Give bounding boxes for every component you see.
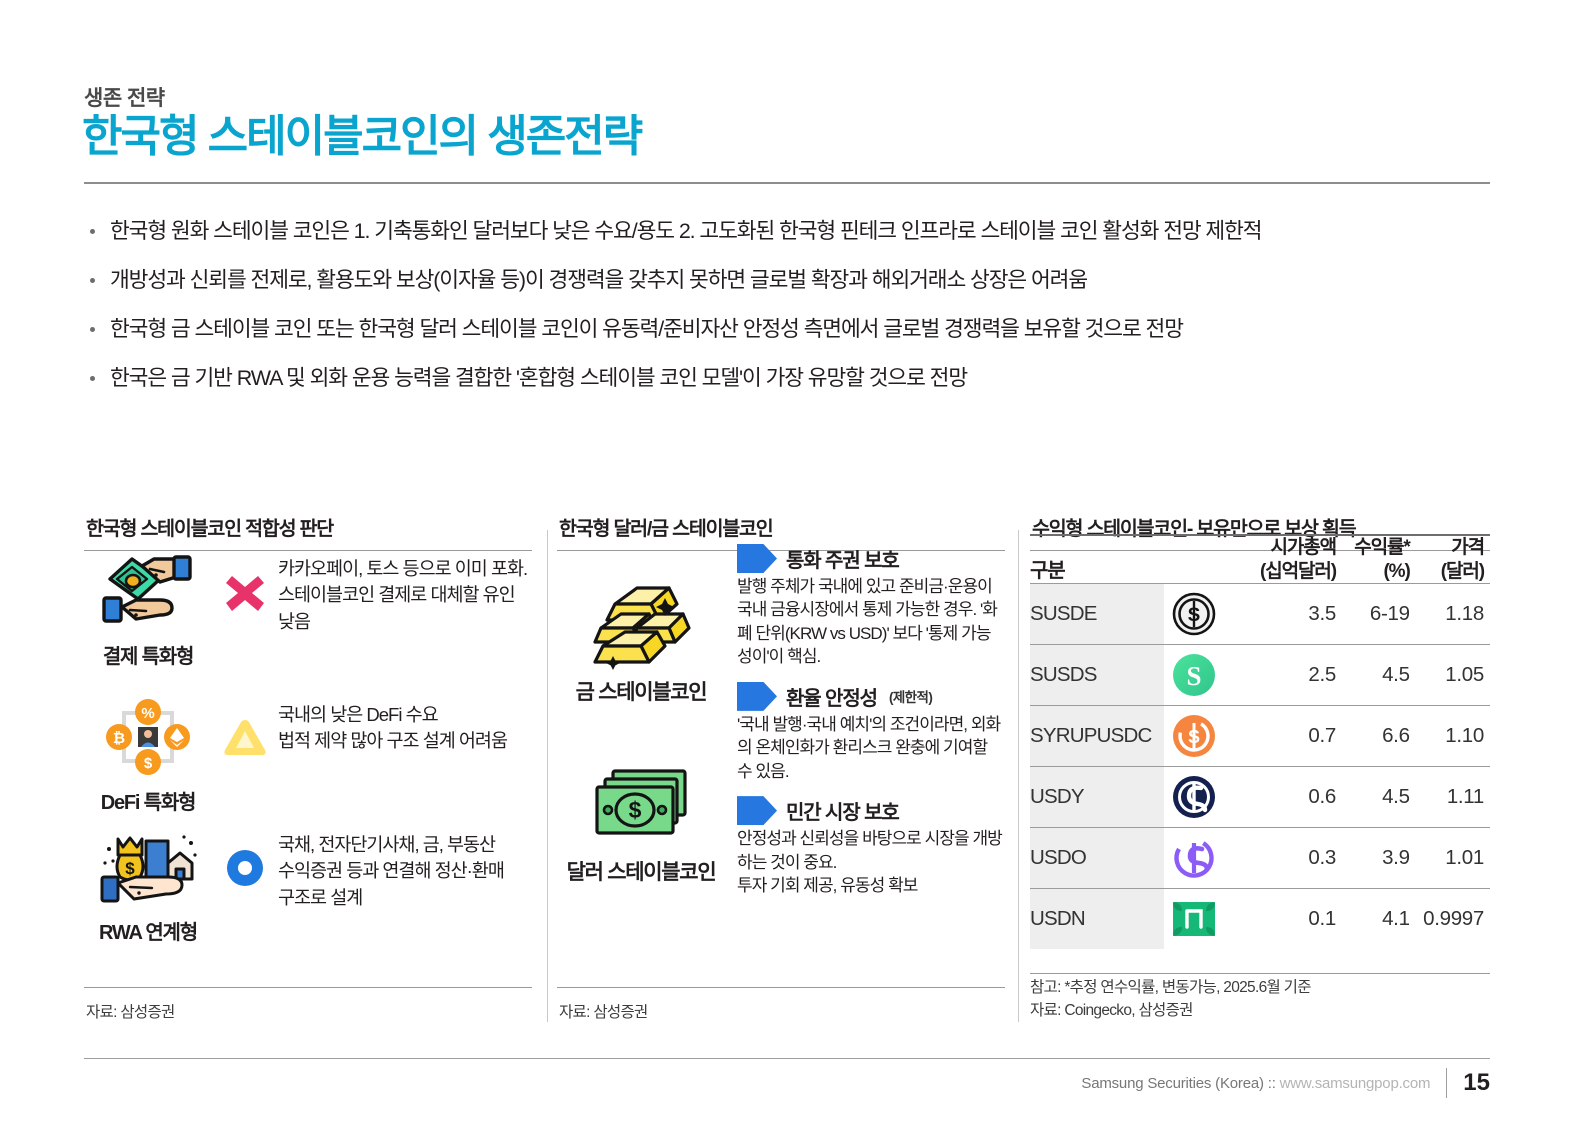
- coin-mcap: 0.3: [1225, 828, 1336, 889]
- usdy-coin-icon: [1164, 774, 1224, 820]
- coin-mcap: 0.7: [1225, 706, 1336, 767]
- suitability-label: DeFi 특화형: [84, 786, 212, 815]
- coin-name: SYRUPUSDC: [1030, 706, 1164, 767]
- col-header-mcap: 시가총액 (십억달러): [1225, 535, 1336, 584]
- suitability-text: 국채, 전자단기사채, 금, 부동산 수익증권 등과 연결해 정산·환매 구조로…: [278, 824, 504, 911]
- yellow-triangle-icon: [212, 694, 278, 782]
- footer-company: Samsung Securities (Korea) ::: [1081, 1075, 1279, 1092]
- page-number: 15: [1463, 1069, 1490, 1097]
- gold-bars-icon: [557, 572, 725, 676]
- dollar-stablecoin-label: 달러 스테이블코인: [557, 856, 725, 886]
- panel-c-source: 자료: Coingecko, 삼성증권: [1030, 1000, 1311, 1022]
- coin-yield: 3.9: [1336, 828, 1410, 889]
- defi-network-icon: % $ ₿: [84, 694, 212, 782]
- footer-text: Samsung Securities (Korea) :: www.samsun…: [1081, 1075, 1430, 1092]
- footer-domain: www.samsungpop.com: [1280, 1075, 1431, 1092]
- col-header-icon: [1164, 535, 1224, 584]
- table-row: USDY 0.6 4: [1030, 767, 1490, 828]
- coin-mcap: 0.1: [1225, 889, 1336, 950]
- suitability-row: % $ ₿ DeFi 특화형: [84, 694, 507, 815]
- bullet-item: 개방성과 신뢰를 전제로, 활용도와 보상(이자율 등)이 경쟁력을 갖추지 못…: [84, 267, 1504, 294]
- panel-divider-1: [547, 530, 548, 1022]
- dollar-bills-icon: $: [557, 752, 725, 856]
- page-title: 한국형 스테이블코인의 생존전략: [82, 112, 641, 163]
- yield-table: 구분 시가총액 (십억달러) 수익률* (%) 가격 (달러): [1030, 534, 1490, 949]
- coin-yield: 6.6: [1336, 706, 1410, 767]
- bullet-list: 한국형 원화 스테이블 코인은 1. 기축통화인 달러보다 낮은 수요/용도 2…: [84, 218, 1504, 414]
- coin-price: 1.18: [1410, 584, 1490, 645]
- susds-coin-icon: S: [1164, 652, 1224, 698]
- blue-circle-icon: [212, 824, 278, 912]
- cash-handoff-icon: [84, 548, 212, 636]
- svg-text:%: %: [141, 705, 154, 722]
- suitability-text: 카카오페이, 토스 등으로 이미 포화. 스테이블코인 결제로 대체할 유인 낮…: [278, 548, 527, 635]
- suitability-row: 결제 특화형 카카오페이, 토스 등으로 이미 포화. 스테이블코인 결제로 대…: [84, 548, 527, 669]
- suitability-label: 결제 특화형: [84, 640, 212, 669]
- coin-name: SUSDE: [1030, 584, 1164, 645]
- panel-a-source: 자료: 삼성증권: [86, 1000, 175, 1022]
- bullet-item: 한국은 금 기반 RWA 및 외화 운용 능력을 결합한 '혼합형 스테이블 코…: [84, 365, 1504, 392]
- benefit-heading: 통화 주권 보호: [786, 544, 899, 573]
- coin-yield: 4.5: [1336, 767, 1410, 828]
- coin-name: USDO: [1030, 828, 1164, 889]
- svg-text:S: S: [1188, 727, 1200, 747]
- svg-text:$: $: [144, 755, 153, 772]
- svg-text:₿: ₿: [113, 730, 125, 747]
- footer-separator: [1446, 1068, 1447, 1098]
- benefit-heading: 민간 시장 보호: [786, 796, 899, 825]
- arrow-right-icon: [737, 682, 777, 711]
- gold-stablecoin-label: 금 스테이블코인: [557, 676, 725, 706]
- coin-name: USDY: [1030, 767, 1164, 828]
- col-header-name: 구분: [1030, 535, 1164, 584]
- table-row: USDN: [1030, 889, 1490, 950]
- panel-divider-2: [1018, 530, 1019, 1022]
- dollar-stablecoin-item: $ 달러 스테이블코인: [557, 752, 725, 886]
- usdn-coin-icon: [1164, 900, 1224, 938]
- panel-b-icon-column: 금 스테이블코인 $: [557, 572, 725, 932]
- svg-text:S: S: [1187, 661, 1202, 691]
- col-mcap-line1: 시가총액: [1270, 537, 1336, 558]
- suitability-label: RWA 연계형: [84, 916, 212, 945]
- coin-name: USDN: [1030, 889, 1164, 950]
- panels-container: 한국형 스테이블코인 적합성 판단: [84, 512, 1490, 1032]
- col-yield-line1: 수익률*: [1354, 537, 1409, 558]
- coin-price: 1.10: [1410, 706, 1490, 767]
- suitability-row: $: [84, 824, 504, 945]
- col-mcap-line2: (십억달러): [1225, 560, 1336, 584]
- panel-c-note-rule: [1030, 973, 1490, 974]
- panel-b-text-column: 통화 주권 보호 발행 주체가 국내에 있고 준비금·운용이 국내 금융시장에서…: [737, 544, 1005, 911]
- coin-mcap: 0.6: [1225, 767, 1336, 828]
- benefit-body: '국내 발행·국내 예치'의 조건이라면, 외화의 온체인화가 환리스크 완충에…: [737, 713, 1005, 783]
- col-header-price: 가격 (달러): [1410, 535, 1490, 584]
- svg-text:S: S: [1188, 605, 1201, 626]
- table-row: USDO 0.3 3.9 1.01: [1030, 828, 1490, 889]
- col-price-line2: (달러): [1410, 560, 1484, 584]
- col-price-line1: 가격: [1451, 537, 1484, 558]
- coin-mcap: 3.5: [1225, 584, 1336, 645]
- coin-price: 1.01: [1410, 828, 1490, 889]
- panel-a-source-rule: [84, 987, 532, 988]
- rwa-assets-hand-icon: $: [84, 824, 212, 912]
- table-row: SUSDE S 3.5: [1030, 584, 1490, 645]
- slide-eyebrow: 생존 전략: [84, 82, 165, 112]
- panel-dollar-gold: 한국형 달러/금 스테이블코인: [557, 512, 1005, 1032]
- benefit-block: 통화 주권 보호 발행 주체가 국내에 있고 준비금·운용이 국내 금융시장에서…: [737, 544, 1005, 669]
- benefit-subnote: (제한적): [889, 686, 932, 706]
- table-header-row: 구분 시가총액 (십억달러) 수익률* (%) 가격 (달러): [1030, 535, 1490, 584]
- footer: Samsung Securities (Korea) :: www.samsun…: [1081, 1068, 1490, 1098]
- slide-root: 생존 전략 한국형 스테이블코인의 생존전략 한국형 원화 스테이블 코인은 1…: [0, 0, 1587, 1143]
- panel-b-source-rule: [557, 987, 1005, 988]
- coin-name: SUSDS: [1030, 645, 1164, 706]
- coin-yield: 4.1: [1336, 889, 1410, 950]
- panel-a-title: 한국형 스테이블코인 적합성 판단: [86, 512, 532, 541]
- benefit-heading: 환율 안정성: [786, 682, 877, 711]
- coin-price: 1.05: [1410, 645, 1490, 706]
- panel-b-source: 자료: 삼성증권: [559, 1000, 648, 1022]
- suitability-text: 국내의 낮은 DeFi 수요 법적 제약 많아 구조 설계 어려움: [278, 694, 507, 755]
- arrow-right-icon: [737, 544, 777, 573]
- benefit-block: 환율 안정성 (제한적) '국내 발행·국내 예치'의 조건이라면, 외화의 온…: [737, 682, 1005, 783]
- panel-c-note: 참고: *추정 연수익률, 변동가능, 2025.6월 기준: [1030, 977, 1311, 999]
- arrow-right-icon: [737, 796, 777, 825]
- title-divider: [84, 182, 1490, 184]
- panel-yield-stablecoins: 수익형 스테이블코인- 보유만으로 보상 획득 구분 시가총액 (십억달러) 수…: [1030, 512, 1490, 1032]
- susde-coin-icon: S: [1164, 591, 1224, 637]
- usdo-coin-icon: [1164, 835, 1224, 881]
- benefit-body: 안정성과 신뢰성을 바탕으로 시장을 개방하는 것이 중요. 투자 기회 제공,…: [737, 827, 1005, 897]
- benefit-block: 민간 시장 보호 안정성과 신뢰성을 바탕으로 시장을 개방하는 것이 중요. …: [737, 796, 1005, 897]
- syrupusdc-coin-icon: S: [1164, 713, 1224, 759]
- panel-b-title: 한국형 달러/금 스테이블코인: [559, 512, 1005, 541]
- panel-suitability: 한국형 스테이블코인 적합성 판단: [84, 512, 532, 1032]
- bullet-item: 한국형 금 스테이블 코인 또는 한국형 달러 스테이블 코인이 유동력/준비자…: [84, 316, 1504, 343]
- col-yield-line2: (%): [1336, 560, 1410, 584]
- table-row: SUSDS S: [1030, 645, 1490, 706]
- panel-c-notes: 참고: *추정 연수익률, 변동가능, 2025.6월 기준 자료: Coing…: [1030, 977, 1311, 1022]
- coin-yield: 4.5: [1336, 645, 1410, 706]
- red-x-icon: [212, 548, 278, 636]
- coin-price: 0.9997: [1410, 889, 1490, 950]
- footer-divider: [84, 1058, 1490, 1059]
- coin-price: 1.11: [1410, 767, 1490, 828]
- svg-text:$: $: [125, 859, 135, 878]
- coin-yield: 6-19: [1336, 584, 1410, 645]
- table-row: SYRUPUSDC S 0.7: [1030, 706, 1490, 767]
- col-header-yield: 수익률* (%): [1336, 535, 1410, 584]
- gold-stablecoin-item: 금 스테이블코인: [557, 572, 725, 706]
- bullet-item: 한국형 원화 스테이블 코인은 1. 기축통화인 달러보다 낮은 수요/용도 2…: [84, 218, 1504, 245]
- benefit-body: 발행 주체가 국내에 있고 준비금·운용이 국내 금융시장에서 통제 가능한 경…: [737, 575, 1005, 669]
- svg-text:$: $: [629, 797, 642, 823]
- coin-mcap: 2.5: [1225, 645, 1336, 706]
